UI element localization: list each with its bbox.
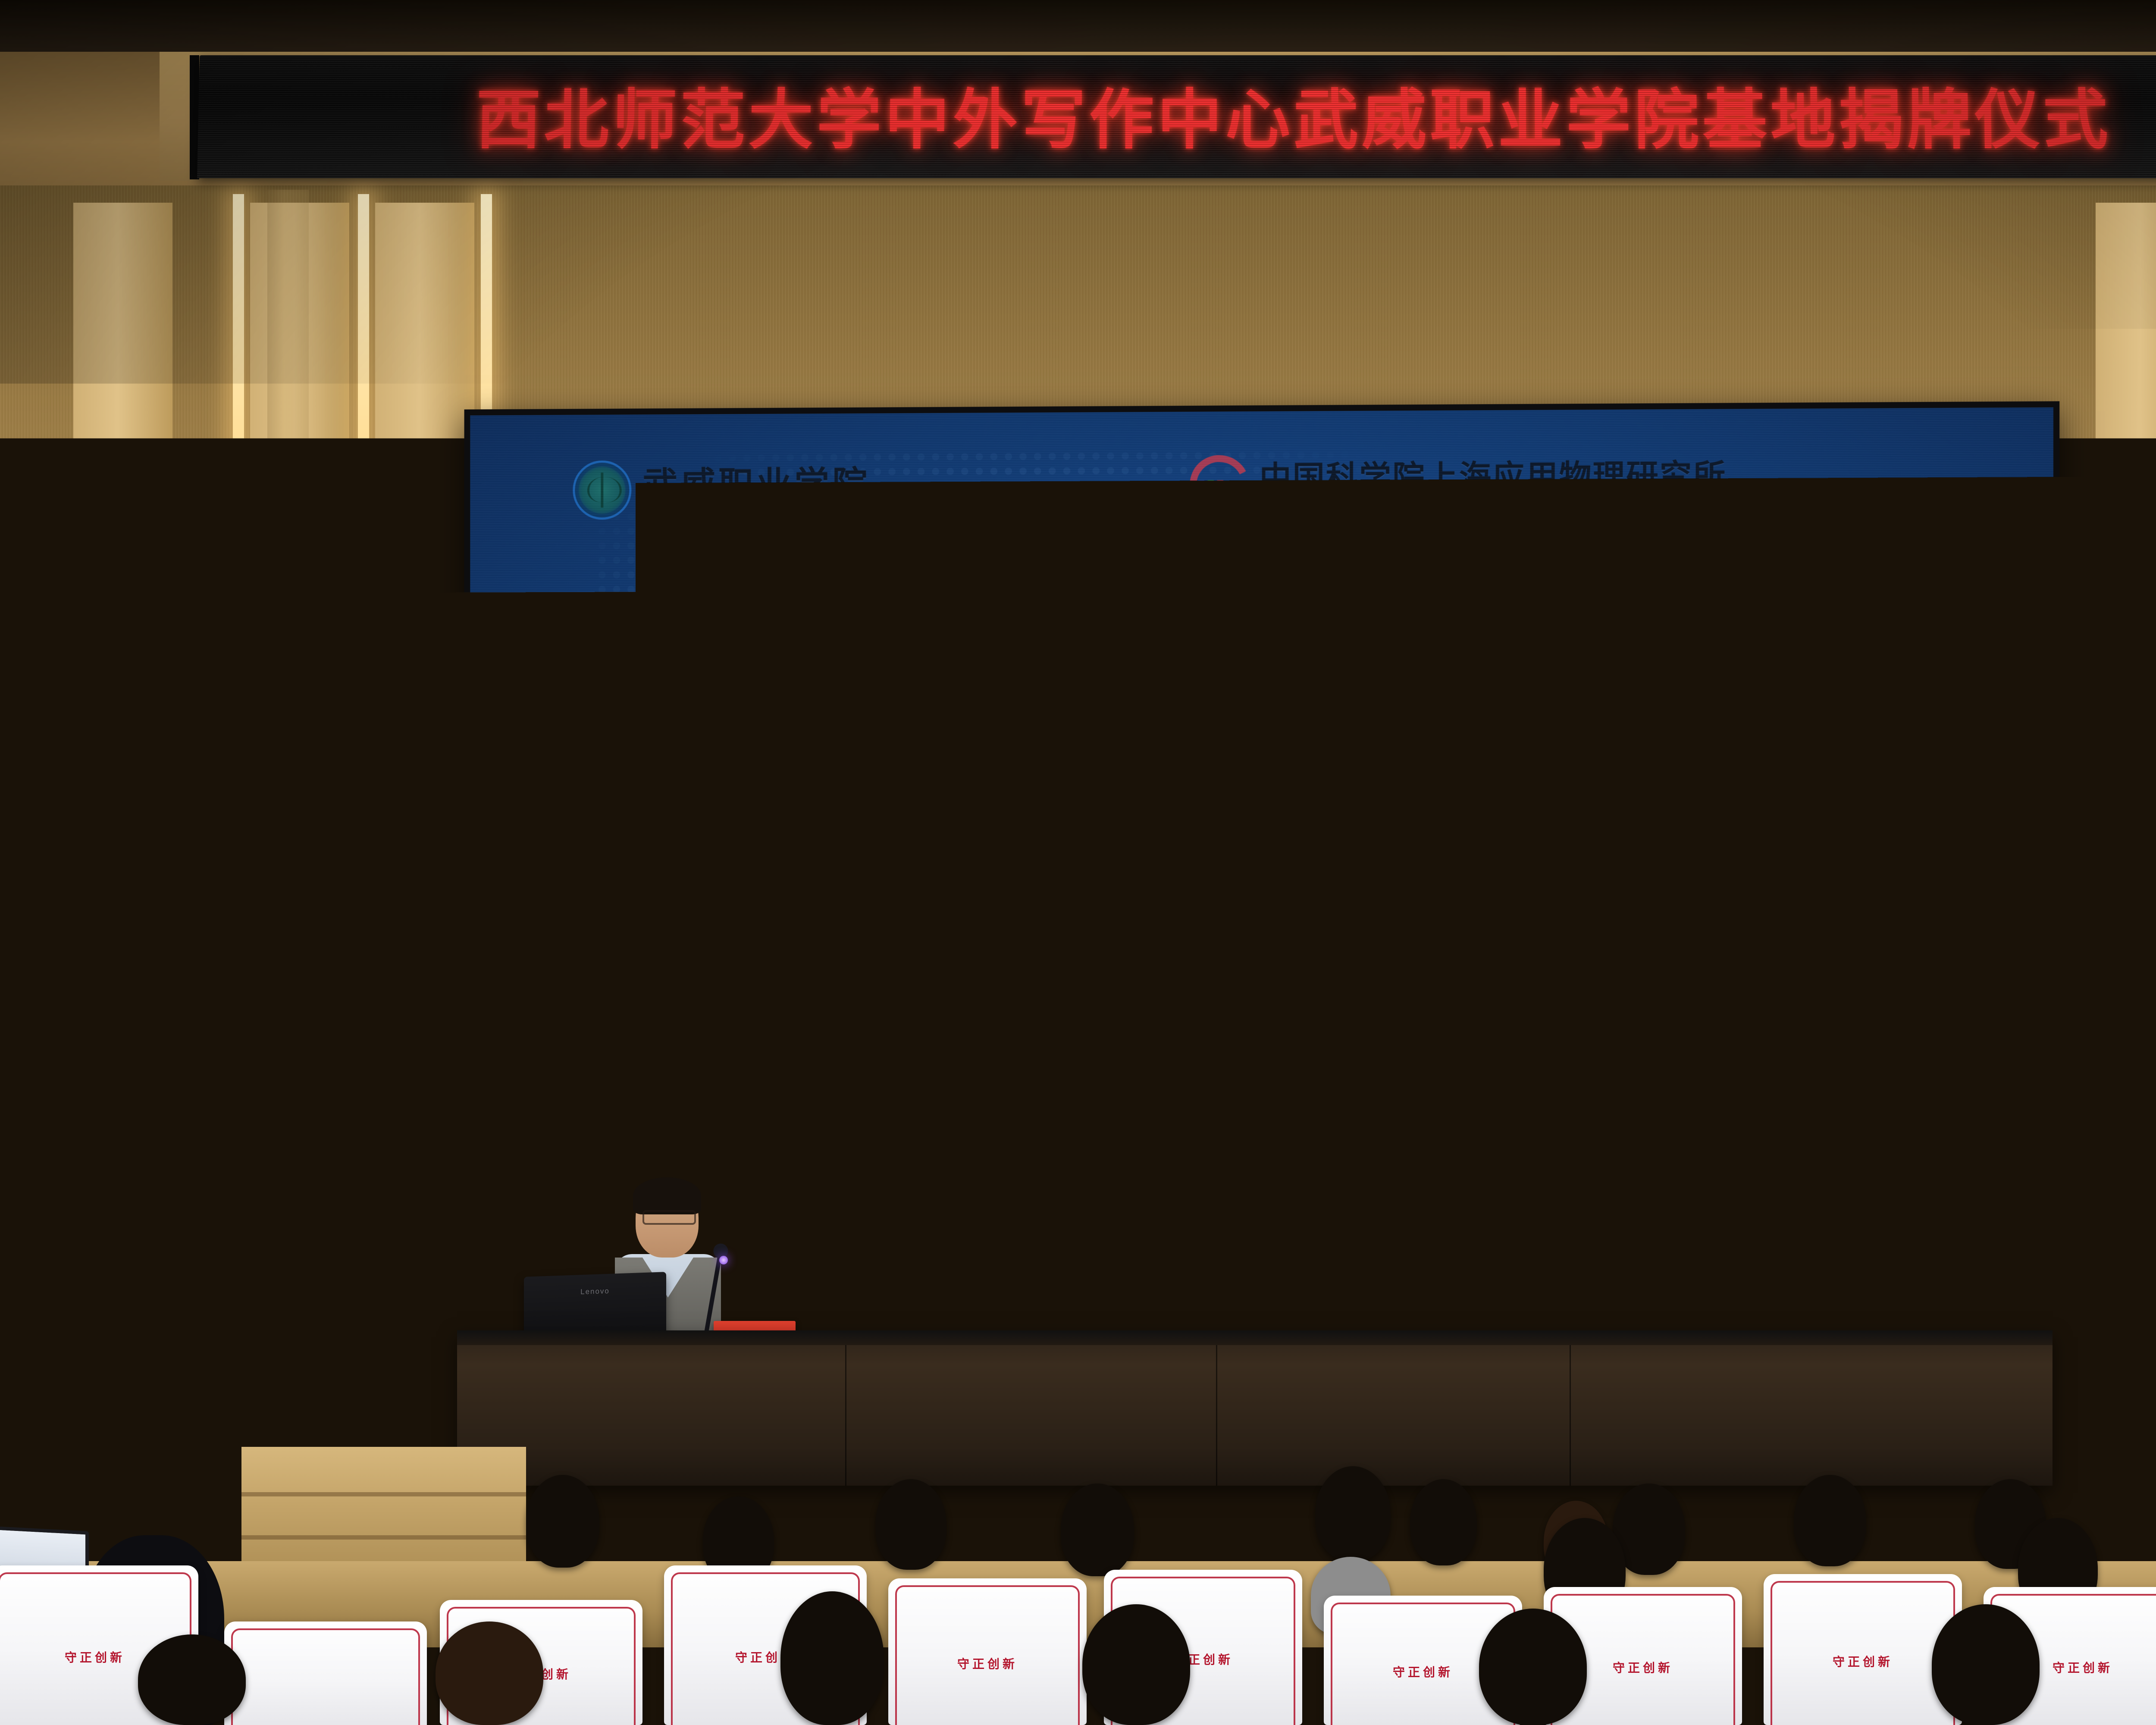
high-speed-train-graphic	[486, 997, 926, 1212]
sponsor-trust: 上海信托 SHANGHAI TRUST	[775, 956, 891, 1011]
stage-step-edge	[241, 1535, 526, 1540]
attendee-head-front	[1479, 1609, 1587, 1725]
chair[interactable]	[224, 1621, 427, 1725]
institute-name-cn: 中国科学院上海应用物理研究所	[1260, 450, 1727, 499]
wall-light-strip	[233, 194, 244, 1471]
conference-hall-photo: 西北师范大学中外写作中心武威职业学院基地揭牌仪式 武威职业学院 WU WEI O…	[0, 0, 2156, 1725]
ceiling-dark-strip	[0, 0, 2156, 52]
chair-cover-text: 守正创新	[888, 1655, 1087, 1672]
sponsor-2-cn: 上海信托	[775, 956, 891, 997]
attendee-head-front	[436, 1621, 543, 1725]
led-banner: 西北师范大学中外写作中心武威职业学院基地揭牌仪式	[197, 55, 2156, 178]
podium-seam	[1216, 1345, 1217, 1486]
floating-island-graphic	[942, 896, 1363, 1198]
sponsor-1-cn: 上善公益	[608, 955, 724, 997]
chair[interactable]: 守正创新	[1764, 1574, 1962, 1725]
wall-light-strip	[358, 194, 369, 1471]
sponsor-philanthropy: 上善公益 SH TRUST PHILANTHROPY	[589, 955, 744, 1011]
screen-main-title: 绿洲讲坛	[470, 601, 2053, 795]
wall-pilaster	[267, 190, 309, 1475]
sponsor-2-en: SHANGHAI TRUST	[780, 999, 886, 1011]
wall-panel	[2096, 203, 2156, 1466]
laptop-brand-label: Lenovo	[580, 1287, 610, 1296]
attendee-head-front	[138, 1634, 246, 1725]
sinap-abbr: SINAP	[1189, 501, 1235, 515]
attendee-head	[1315, 1466, 1391, 1561]
college-logo: 武威职业学院 WU WEI OCCUPATIONAL COLLEGE	[573, 455, 883, 524]
college-name-en: WU WEI OCCUPATIONAL COLLEGE	[642, 510, 883, 523]
orbit-node	[1661, 1099, 1680, 1119]
college-name-cn: 武威职业学院	[642, 455, 883, 508]
attendee-head-front	[780, 1591, 884, 1725]
sponsor-divider	[759, 959, 761, 1007]
orbit-node	[1990, 1012, 2010, 1032]
sponsor-1-en: SH TRUST PHILANTHROPY	[589, 999, 744, 1010]
podium-desk	[457, 1330, 2053, 1486]
speaker-glasses	[642, 1210, 696, 1225]
chair[interactable]: 守正创新	[888, 1578, 1087, 1725]
attendee-head-front	[1932, 1604, 2040, 1725]
microphone-led	[719, 1256, 728, 1264]
attendee-head	[875, 1479, 946, 1570]
attendee-head	[1410, 1479, 1477, 1565]
speaker-hair	[633, 1177, 701, 1214]
wall-panel	[375, 203, 474, 1466]
screen-logo-row: 武威职业学院 WU WEI OCCUPATIONAL COLLEGE SINAP…	[470, 450, 2053, 584]
attendee-head	[1794, 1475, 1866, 1566]
sinap-logo: SINAP 中国科学院上海应用物理研究所 Shanghai Institute …	[1184, 450, 1727, 514]
attendee-head-front	[1082, 1604, 1190, 1725]
screen-subtitle: “上善”系列上信中西部地区（甘肃）绿色新能源职业教育帮扶慈善信托支持	[470, 892, 2053, 931]
stage-step-edge	[241, 1492, 526, 1496]
attendee-head	[1061, 1483, 1134, 1576]
attendee-head	[116, 1458, 190, 1548]
podium-top-edge	[457, 1330, 2053, 1345]
seal-stamp-icon	[910, 956, 941, 994]
college-seal-icon	[573, 460, 632, 520]
institute-name-en: Shanghai Institute of Applied Physics, C…	[1260, 500, 1727, 513]
attendee-head	[526, 1475, 599, 1568]
side-door-left[interactable]	[0, 1026, 68, 1539]
wall-panel	[73, 203, 172, 1466]
podium-seam	[845, 1345, 846, 1486]
sinap-mark-icon: SINAP	[1184, 452, 1248, 513]
podium-seam	[1570, 1345, 1571, 1486]
led-banner-text: 西北师范大学中外写作中心武威职业学院基地揭牌仪式	[197, 67, 2156, 161]
sponsor-logo-group: 上善公益 SH TRUST PHILANTHROPY 上海信托 SHANGHAI…	[589, 955, 942, 1011]
